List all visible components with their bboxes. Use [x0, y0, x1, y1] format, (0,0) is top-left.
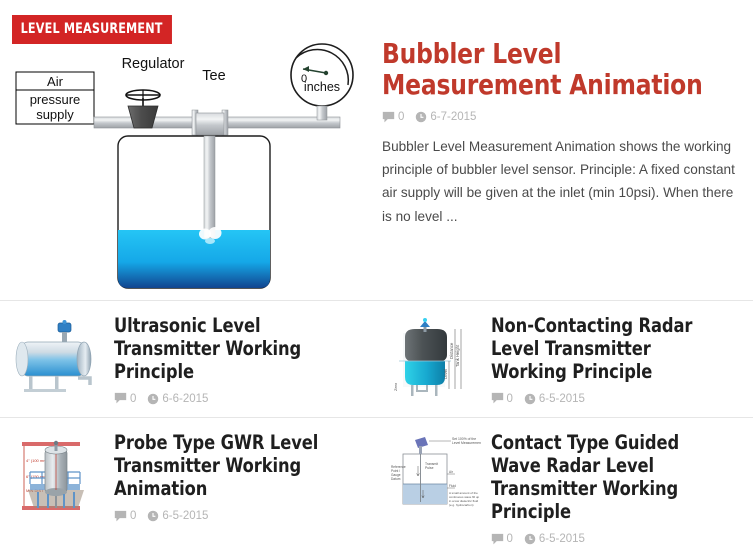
post-title[interactable]: Non-Contacting Radar Level Transmitter W… [491, 315, 726, 383]
svg-text:Level Measurement: Level Measurement [452, 441, 481, 445]
post-thumbnail-ultrasonic[interactable] [12, 315, 104, 403]
comment-count-value: 0 [130, 393, 136, 405]
publish-date-value: 6-6-2015 [162, 393, 208, 405]
post-title[interactable]: Contact Type Guided Wave Radar Level Tra… [491, 432, 726, 523]
post-body: Contact Type Guided Wave Radar Level Tra… [481, 432, 744, 545]
svg-text:pressure: pressure [30, 92, 81, 107]
post-body: Ultrasonic Level Transmitter Working Pri… [104, 315, 367, 405]
post-body: Non-Contacting Radar Level Transmitter W… [481, 315, 744, 405]
svg-text:Air: Air [47, 74, 64, 89]
guided-wave-radar-thumbnail-icon: Set 100% of the Level Measurement Refere… [389, 432, 481, 520]
clock-icon [147, 510, 159, 522]
publish-date-value: 6-5-2015 [539, 393, 585, 405]
featured-title[interactable]: Bubbler Level Measurement Animation [382, 38, 714, 101]
svg-text:supply: supply [36, 107, 74, 122]
post-grid: Ultrasonic Level Transmitter Working Pri… [0, 300, 753, 558]
post-meta: 0 6-6-2015 [114, 392, 367, 405]
publish-date: 6-6-2015 [147, 393, 208, 405]
comment-count: 0 [382, 111, 404, 124]
post-thumbnail-gwr-probe[interactable]: 4" (100 mm) 6" (150 mm) MIN DIST [12, 432, 104, 520]
comment-icon [114, 392, 127, 405]
svg-text:Tee: Tee [202, 68, 225, 84]
clock-icon [524, 533, 536, 545]
featured-meta: 0 6-7-2015 [382, 111, 739, 124]
publish-date: 6-5-2015 [524, 533, 585, 545]
featured-thumbnail[interactable]: LEVEL MEASUREMENT [0, 0, 372, 300]
post-body: Probe Type GWR Level Transmitter Working… [104, 432, 367, 522]
comment-count: 0 [114, 510, 136, 523]
svg-text:Distance: Distance [449, 342, 454, 359]
svg-text:inches: inches [304, 80, 340, 94]
featured-article[interactable]: LEVEL MEASUREMENT [0, 0, 753, 300]
comment-count-value: 0 [507, 533, 513, 545]
comment-count-value: 0 [130, 510, 136, 522]
post-title[interactable]: Ultrasonic Level Transmitter Working Pri… [114, 315, 349, 383]
post-card-ultrasonic[interactable]: Ultrasonic Level Transmitter Working Pri… [0, 301, 377, 417]
comment-icon [114, 510, 127, 523]
post-meta: 0 6-5-2015 [491, 533, 744, 546]
clock-icon [415, 111, 427, 123]
clock-icon [147, 393, 159, 405]
svg-text:Regulator: Regulator [122, 56, 185, 72]
svg-text:Datum: Datum [391, 477, 401, 481]
comment-icon [491, 392, 504, 405]
publish-date-value: 6-5-2015 [539, 533, 585, 545]
post-thumbnail-radar[interactable]: Distance Tank Height Level Zero [389, 315, 481, 403]
svg-text:Fluid: Fluid [449, 484, 456, 488]
horizontal-tank-ultrasonic-thumbnail-icon [12, 315, 104, 403]
post-title[interactable]: Probe Type GWR Level Transmitter Working… [114, 432, 349, 500]
post-meta: 0 6-5-2015 [491, 392, 744, 405]
category-badge[interactable]: LEVEL MEASUREMENT [12, 15, 172, 44]
featured-excerpt: Bubbler Level Measurement Animation show… [382, 135, 739, 229]
publish-date: 6-5-2015 [524, 393, 585, 405]
publish-date: 6-7-2015 [415, 111, 476, 123]
svg-text:(e.g. hydrocarbon): (e.g. hydrocarbon) [449, 503, 474, 507]
svg-text:Pulse: Pulse [425, 466, 434, 470]
svg-text:Level: Level [443, 369, 448, 379]
radar-tank-diagram-thumbnail-icon: Distance Tank Height Level Zero [389, 315, 481, 403]
comment-count-value: 0 [398, 111, 404, 123]
publish-date-value: 6-7-2015 [430, 111, 476, 123]
post-card-non-contacting-radar[interactable]: Distance Tank Height Level Zero Non-Cont… [377, 301, 753, 417]
post-meta: 0 6-5-2015 [114, 510, 367, 523]
svg-text:Zero: Zero [393, 382, 398, 391]
post-card-contact-gwr[interactable]: Set 100% of the Level Measurement Refere… [377, 417, 753, 557]
featured-text-column: Bubbler Level Measurement Animation 0 6-… [372, 0, 753, 300]
bubbler-level-diagram: Air pressure supply Regulator Tee [0, 40, 372, 300]
post-thumbnail-guided-wave-radar[interactable]: Set 100% of the Level Measurement Refere… [389, 432, 481, 520]
svg-text:Air: Air [449, 470, 454, 474]
post-card-probe-gwr[interactable]: 4" (100 mm) 6" (150 mm) MIN DIST [0, 417, 377, 557]
comment-count: 0 [491, 533, 513, 546]
comment-count: 0 [491, 392, 513, 405]
comment-icon [382, 111, 395, 124]
clock-icon [524, 393, 536, 405]
comment-icon [491, 533, 504, 546]
comment-count-value: 0 [507, 393, 513, 405]
gwr-probe-vessel-thumbnail-icon: 4" (100 mm) 6" (150 mm) MIN DIST [12, 432, 104, 520]
publish-date-value: 6-5-2015 [162, 510, 208, 522]
comment-count: 0 [114, 392, 136, 405]
svg-text:Tank Height: Tank Height [455, 344, 460, 367]
publish-date: 6-5-2015 [147, 510, 208, 522]
